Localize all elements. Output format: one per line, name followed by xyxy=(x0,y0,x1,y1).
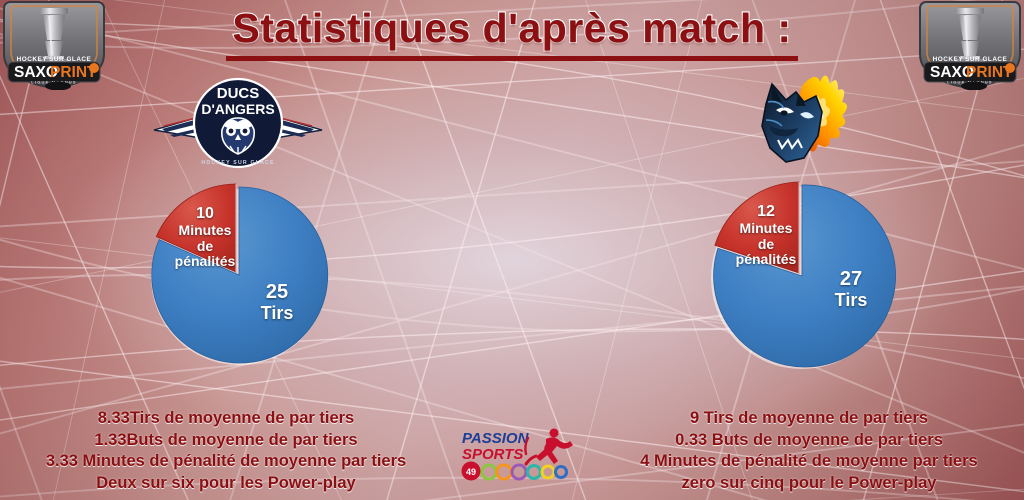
stats-block-dogs: 9 Tirs de moyenne de par tiers 0.33 Buts… xyxy=(594,408,1024,494)
page-title: Statistiques d'après match : xyxy=(226,6,797,61)
pie-chart-ducs xyxy=(148,183,330,367)
stat-line-powerplay: zero sur cinq pour le Power-play xyxy=(594,473,1024,494)
stat-line-penalty-avg: 3.33 Minutes de pénalité de moyenne par … xyxy=(0,451,452,472)
saxoprint-logo-left[interactable]: HOCKEY SUR GLACE SAXO PRINT LIGUE MAGNUS xyxy=(0,0,108,90)
runner-icon xyxy=(525,429,573,465)
stat-line-shots-avg: 8.33Tirs de moyenne de par tiers xyxy=(0,408,452,429)
passion-sports-logo[interactable]: PASSION SPORTS 49 xyxy=(458,424,576,486)
poster-canvas: Statistiques d'après match : xyxy=(0,0,1024,500)
passion-badge: 49 xyxy=(466,467,476,477)
stat-line-powerplay: Deux sur six pour les Power-play xyxy=(0,473,452,494)
pie-chart-dogs xyxy=(708,181,896,371)
team-logo-ducs-dangers[interactable]: DUCS D'ANGERS HOCKEY SUR GLACE xyxy=(152,74,324,172)
passion-word-b: SPORTS xyxy=(462,446,523,463)
stat-line-penalty-avg: 4 Minutes de pénalité de moyenne par tie… xyxy=(594,451,1024,472)
stat-line-goals-avg: 0.33 Buts de moyenne de par tiers xyxy=(594,430,1024,451)
passion-word-a: PASSION xyxy=(462,430,530,447)
ducs-name-line1: DUCS xyxy=(217,85,260,102)
stats-block-ducs: 8.33Tirs de moyenne de par tiers 1.33But… xyxy=(0,408,452,494)
stat-line-shots-avg: 9 Tirs de moyenne de par tiers xyxy=(594,408,1024,429)
ducs-sub: HOCKEY SUR GLACE xyxy=(201,160,274,166)
team-logo-dogs[interactable] xyxy=(742,66,860,174)
color-rings: 49 xyxy=(462,462,567,481)
ducs-name-line2: D'ANGERS xyxy=(201,101,274,117)
stat-line-goals-avg: 1.33Buts de moyenne de par tiers xyxy=(0,430,452,451)
saxoprint-logo-right[interactable]: HOCKEY SUR GLACE SAXO PRINT LIGUE MAGNUS xyxy=(916,0,1024,90)
page-title-container: Statistiques d'après match : xyxy=(0,6,1024,61)
